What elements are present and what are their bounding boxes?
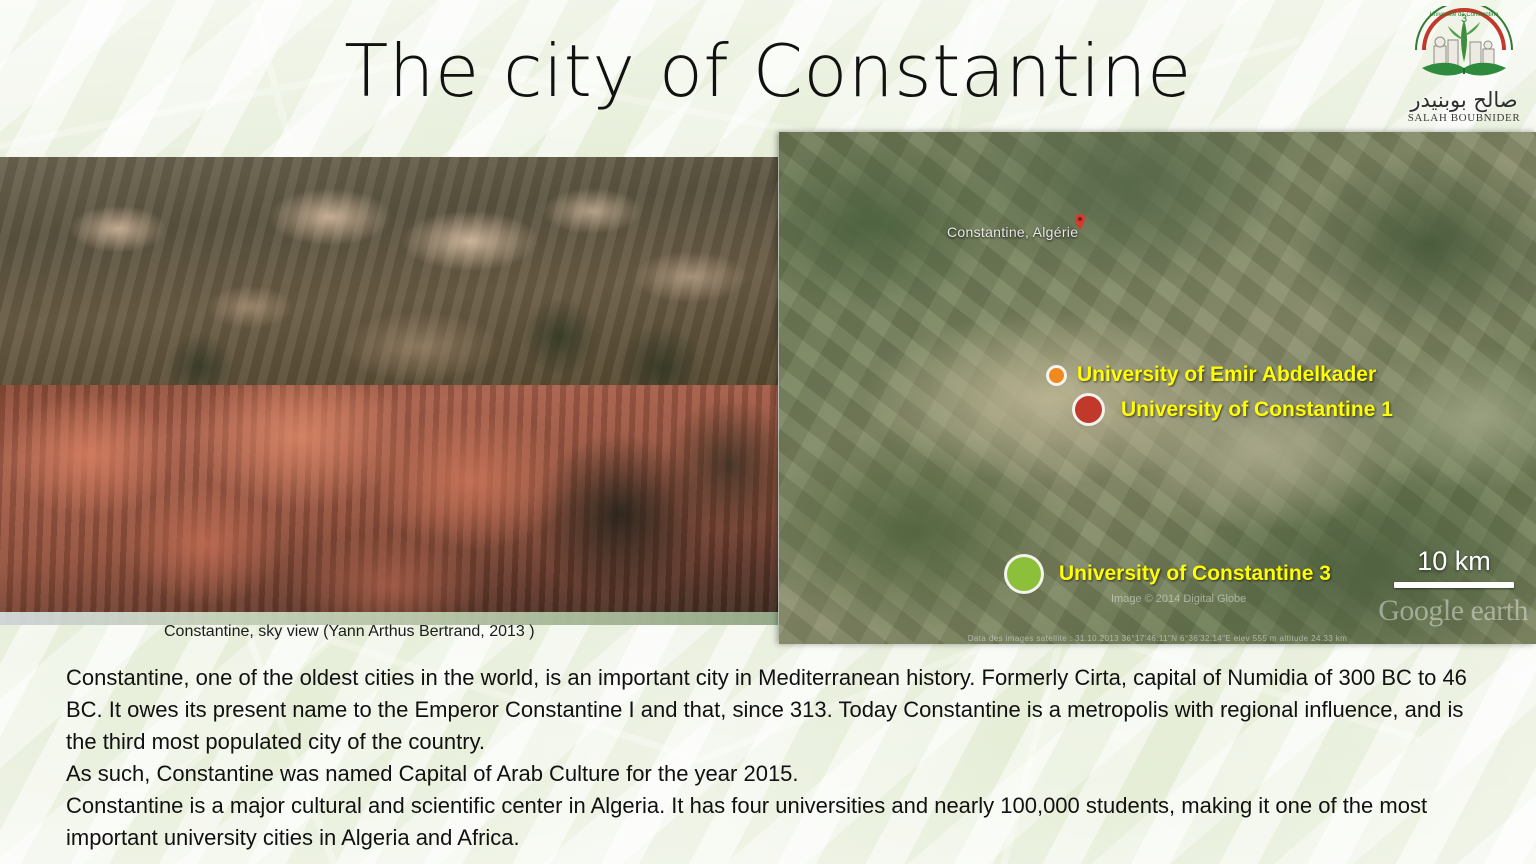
body-paragraph-1: Constantine, one of the oldest cities in… [66,662,1486,758]
marker-label: University of Constantine 3 [1059,562,1331,586]
marker-label: University of Emir Abdelkader [1077,363,1376,387]
marker-dot-red-icon [1075,396,1102,423]
photo-caption: Constantine, sky view (Yann Arthus Bertr… [164,623,535,641]
map-marker-constantine-1[interactable]: University of Constantine 1 [1075,396,1393,423]
logo-arabic-text: صالح بوبنيدر [1398,90,1530,111]
svg-text:Université de Constantine: Université de Constantine [1430,12,1499,18]
map-pin-icon [1075,214,1085,230]
page-title: The city of Constantine [0,34,1536,110]
body-paragraph-3: Constantine is a major cultural and scie… [66,790,1486,854]
photo-cityscape-region [0,157,778,395]
map-place-label: Constantine, Algérie [947,224,1078,240]
photo-gorge-cliff-region [0,385,778,625]
aerial-photo-constantine [0,157,778,625]
marker-dot-green-icon [1007,557,1041,591]
satellite-map-panel[interactable]: Constantine, Algérie University of Emir … [779,132,1536,644]
google-earth-watermark: Google earth [1378,594,1528,628]
map-marker-constantine-3[interactable]: University of Constantine 3 [1007,557,1331,591]
map-coordinates-strip: Data des images satellite : 31.10.2013 3… [779,634,1536,643]
map-scale-line [1394,582,1514,588]
map-scale-bar: 10 km [1394,546,1514,588]
marker-dot-orange-icon [1049,368,1064,383]
university-crest-icon: 3 Université de Constantine [1412,6,1516,98]
body-text-block: Constantine, one of the oldest cities in… [66,662,1486,854]
map-marker-emir-abdelkader[interactable]: University of Emir Abdelkader [1049,363,1376,387]
map-scale-label: 10 km [1394,546,1514,577]
marker-label: University of Constantine 1 [1121,398,1393,422]
map-imagery-credit: Image © 2014 Digital Globe [1111,593,1246,605]
presentation-slide: The city of Constantine 3 Université de … [0,0,1536,864]
university-logo: 3 Université de Constantine صالح بوبنيدر… [1398,4,1530,128]
body-paragraph-2: As such, Constantine was named Capital o… [66,758,1486,790]
logo-latin-text: SALAH BOUBNIDER [1398,112,1530,124]
